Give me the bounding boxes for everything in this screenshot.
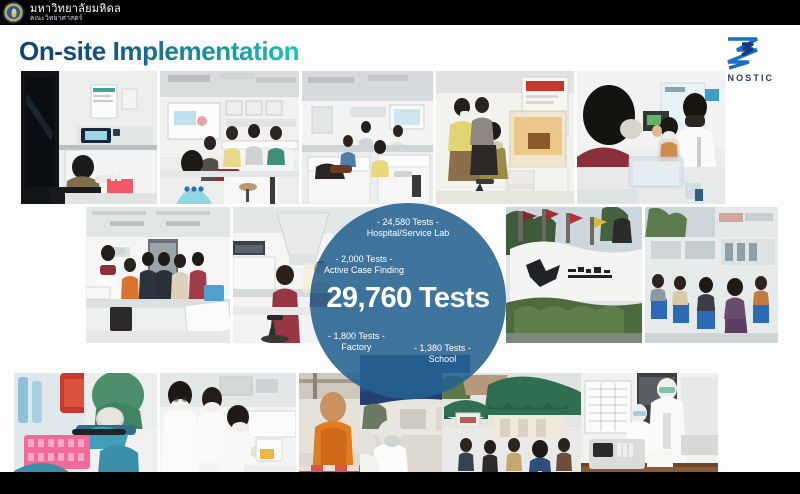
photo-outdoor-queue: [645, 207, 778, 343]
photo-briefing-clinic: [577, 71, 725, 204]
stat-school-label: School: [414, 354, 471, 365]
photo-lab-benches: [302, 71, 433, 204]
photo-temple-tent: [442, 373, 581, 472]
stat-factory: - 1,800 Tests - Factory: [328, 331, 385, 352]
slide-canvas: On-site Implementation ZENOSTIC: [0, 25, 800, 472]
statistics-circle: - 24,580 Tests - Hospital/Service Lab - …: [310, 203, 506, 399]
stat-active-count: - 2,000 Tests -: [324, 254, 404, 265]
viewer-bottom-bar: [0, 472, 800, 494]
stat-school: - 1,380 Tests - School: [414, 343, 471, 364]
stat-total-tests: 29,760 Tests: [310, 282, 506, 315]
stat-school-count: - 1,380 Tests -: [414, 343, 471, 354]
photo-ppe-analyzer: [581, 373, 718, 472]
stat-active-label: Active Case Finding: [324, 265, 404, 276]
photo-team-meeting: [86, 207, 230, 343]
stat-factory-label: Factory: [328, 342, 385, 353]
presentation-slide: มหาวิทยาลัยมหิดล คณะวิทยาศาสตร์ On-site …: [0, 0, 800, 494]
stat-hospital-count: - 24,580 Tests -: [367, 217, 450, 228]
photo-mobile-unit: [160, 373, 296, 472]
organization-name-primary: มหาวิทยาลัยมหิดล: [30, 3, 121, 14]
mahidol-university-emblem-icon: [3, 2, 24, 23]
viewer-top-bar: มหาวิทยาลัยมหิดล คณะวิทยาศาสตร์: [0, 0, 800, 25]
photo-lab-biosafety-cabinet: [21, 71, 157, 204]
organization-name-secondary: คณะวิทยาศาสตร์: [30, 15, 121, 22]
photo-classroom-training: [160, 71, 299, 204]
stat-factory-count: - 1,800 Tests -: [328, 331, 385, 342]
photo-pipetting: [14, 373, 157, 472]
stat-hospital: - 24,580 Tests - Hospital/Service Lab: [367, 217, 450, 238]
stat-hospital-label: Hospital/Service Lab: [367, 228, 450, 239]
photo-hospital-sign: [506, 207, 642, 343]
organization-name: มหาวิทยาลัยมหิดล คณะวิทยาศาสตร์: [30, 3, 121, 22]
photo-sample-handling: [436, 71, 574, 204]
stat-active-case-finding: - 2,000 Tests - Active Case Finding: [324, 254, 404, 275]
